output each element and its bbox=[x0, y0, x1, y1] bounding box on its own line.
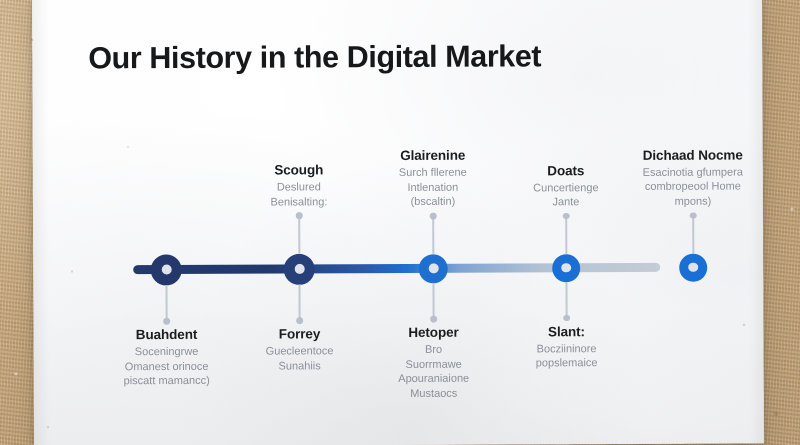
milestone-caption: ForreyGuecleentoceSunahiis bbox=[266, 326, 334, 373]
milestone-connector-dot bbox=[430, 316, 437, 323]
milestone-connector bbox=[565, 282, 567, 318]
milestone-description-line: Intlenation bbox=[399, 180, 467, 195]
milestone-title: Scough bbox=[270, 162, 327, 177]
milestone-connector bbox=[692, 215, 694, 253]
milestone-caption: HetoperBroSuorrmaweApouraniaioneMustaocs bbox=[398, 325, 469, 401]
milestone-connector bbox=[298, 284, 300, 320]
timeline-node-center bbox=[294, 264, 304, 274]
timeline-node bbox=[284, 253, 315, 284]
milestone-description-line: Soceningrwe bbox=[123, 345, 209, 360]
milestone-title: Dichaad Nocme bbox=[643, 147, 743, 162]
timeline-axis bbox=[133, 263, 660, 274]
milestone-caption: GlairenineSurch fllereneIntlenation(bsca… bbox=[399, 148, 467, 210]
timeline-node-center bbox=[562, 263, 571, 272]
milestone-description-line: Apouraniaione bbox=[398, 372, 469, 387]
timeline-node bbox=[419, 254, 448, 283]
timeline-node bbox=[679, 253, 707, 281]
milestone-description-line: Benisalting: bbox=[270, 195, 327, 210]
milestone-connector-dot bbox=[163, 318, 170, 325]
milestone-connector-dot bbox=[563, 315, 570, 322]
paper-sheet: Our History in the Digital Market Buahde… bbox=[32, 0, 764, 445]
timeline-graphic: BuahdentSoceningrweOmanest orinocepiscat… bbox=[32, 0, 764, 445]
milestone-connector bbox=[432, 216, 434, 254]
timeline-node bbox=[552, 254, 580, 282]
milestone-caption: Dichaad NocmeEsacinotia gfumperacombrope… bbox=[643, 147, 744, 209]
milestone-connector-dot bbox=[563, 213, 570, 220]
milestone-connector-dot bbox=[430, 213, 437, 220]
milestone-description-line: Jante bbox=[533, 195, 599, 210]
cardboard-background: Our History in the Digital Market Buahde… bbox=[0, 0, 800, 445]
milestone-connector bbox=[165, 285, 167, 321]
milestone-description-line: combropeool Home bbox=[643, 179, 743, 194]
milestone-caption: Slant:Bocziininorepopslemaice bbox=[536, 324, 598, 371]
milestone-connector-dot bbox=[296, 212, 303, 219]
milestone-description-line: popslemaice bbox=[536, 356, 598, 371]
milestone-connector bbox=[565, 216, 567, 254]
milestone-description-line: mpons) bbox=[643, 194, 743, 209]
milestone-caption: BuahdentSoceningrweOmanest orinocepiscat… bbox=[123, 327, 209, 389]
milestone-description-line: Deslured bbox=[270, 180, 327, 195]
milestone-title: Slant: bbox=[536, 324, 598, 339]
milestone-description-line: (bscaltin) bbox=[399, 195, 467, 210]
timeline-node-center bbox=[161, 264, 171, 274]
timeline-node bbox=[151, 254, 182, 285]
timeline-node-center bbox=[428, 263, 438, 273]
milestone-connector bbox=[298, 215, 300, 253]
milestone-description-line: Surch fllerene bbox=[399, 166, 467, 181]
milestone-title: Buahdent bbox=[123, 327, 209, 342]
milestone-title: Hetoper bbox=[398, 325, 469, 340]
milestone-connector-dot bbox=[690, 212, 697, 219]
milestone-description-line: Bocziininore bbox=[536, 342, 598, 357]
milestone-description-line: Omanest orinoce bbox=[124, 359, 210, 374]
milestone-title: Glairenine bbox=[399, 148, 467, 163]
milestone-description-line: Esacinotia gfumpera bbox=[643, 165, 743, 180]
milestone-description-line: Suorrmawe bbox=[398, 357, 469, 372]
milestone-title: Doats bbox=[533, 163, 599, 178]
milestone-caption: ScoughDesluredBenisalting: bbox=[270, 162, 327, 209]
milestone-description-line: Guecleentoce bbox=[266, 344, 334, 359]
timeline-node-center bbox=[689, 263, 698, 272]
milestone-description-line: piscatt mamancc) bbox=[124, 374, 210, 389]
milestone-caption: DoatsCuncertiengeJante bbox=[533, 163, 599, 210]
milestone-connector-dot bbox=[296, 317, 303, 324]
milestone-description-line: Sunahiis bbox=[266, 359, 334, 374]
milestone-description-line: Cuncertienge bbox=[533, 181, 599, 196]
milestone-title: Forrey bbox=[266, 326, 334, 341]
milestone-description-line: Mustaocs bbox=[398, 386, 469, 401]
milestone-connector bbox=[432, 283, 434, 319]
milestone-description-line: Bro bbox=[398, 343, 469, 358]
